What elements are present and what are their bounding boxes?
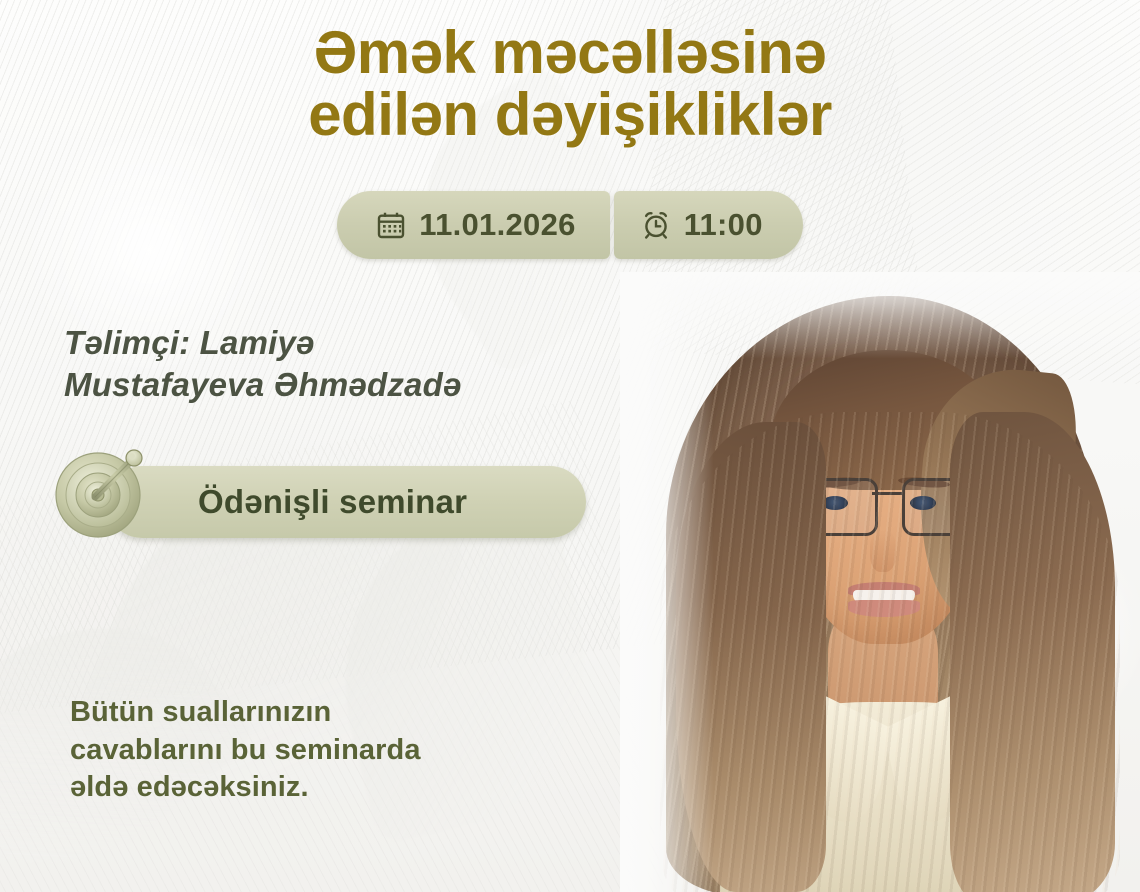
schedule-chips: 11.01.2026 11:00 bbox=[0, 191, 1140, 259]
instructor-line-2: Mustafayeva Əhmədzadə bbox=[64, 366, 462, 403]
footnote-text: Bütün suallarınızın cavablarını bu semin… bbox=[70, 694, 550, 807]
portrait-nose bbox=[870, 530, 896, 572]
target-dart-icon bbox=[48, 440, 152, 544]
instructor-line-1: Təlimçi: Lamiyə bbox=[64, 324, 315, 361]
seminar-poster: Əmək məcəlləsinə edilən dəyişikliklər bbox=[0, 0, 1140, 892]
paid-seminar-badge: Ödənişli seminar bbox=[48, 440, 568, 550]
paid-seminar-pill: Ödənişli seminar bbox=[106, 466, 586, 538]
time-value: 11:00 bbox=[684, 207, 763, 243]
footnote-line-2: cavablarını bu seminarda bbox=[70, 734, 421, 766]
date-value: 11.01.2026 bbox=[419, 207, 575, 243]
poster-title: Əmək məcəlləsinə edilən dəyişikliklər bbox=[0, 22, 1140, 146]
portrait-hair-front-right bbox=[950, 412, 1115, 892]
footnote-line-3: əldə edəcəksiniz. bbox=[70, 771, 309, 803]
portrait-lower-lip bbox=[848, 600, 920, 617]
alarm-clock-icon bbox=[640, 209, 672, 241]
time-chip: 11:00 bbox=[614, 191, 803, 259]
footnote-line-1: Bütün suallarınızın bbox=[70, 696, 331, 728]
instructor-portrait-photo bbox=[620, 272, 1140, 892]
date-chip: 11.01.2026 bbox=[337, 191, 609, 259]
eyeglass-bridge bbox=[872, 492, 902, 495]
portrait-hair-front-left bbox=[676, 422, 826, 892]
paid-seminar-label: Ödənişli seminar bbox=[198, 483, 467, 521]
instructor-name-block: Təlimçi: Lamiyə Mustafayeva Əhmədzadə bbox=[64, 322, 664, 406]
calendar-icon bbox=[375, 209, 407, 241]
poster-title-line-1: Əmək məcəlləsinə bbox=[314, 19, 827, 86]
poster-title-line-2: edilən dəyişikliklər bbox=[0, 84, 1140, 146]
